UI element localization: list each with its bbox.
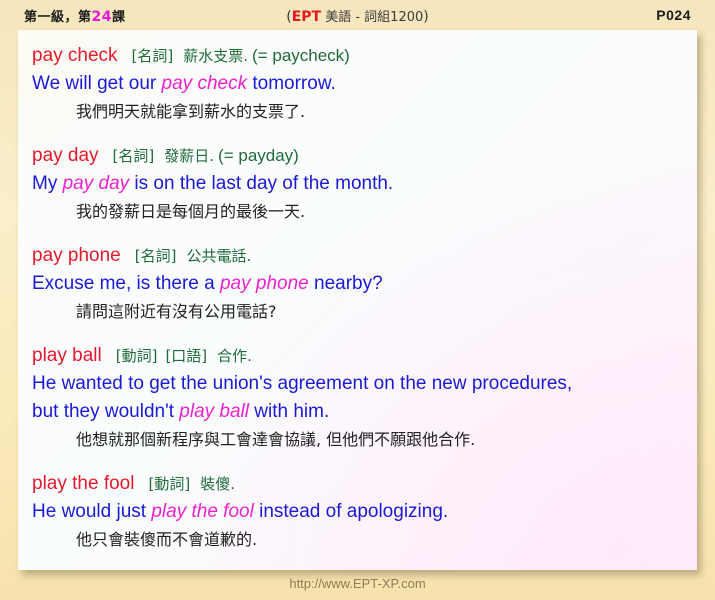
series-title-rest: 美語 - 詞組1200 <box>321 10 423 25</box>
entry-translation-chinese: 他只會裝傻而不會道歉的. <box>32 526 697 554</box>
entry-example-english: He wanted to get the union's agreement o… <box>32 370 697 398</box>
page-header: 第一級，第24課 (EPT 美語 - 詞組1200) P024 <box>0 0 715 30</box>
entry-headword-line: play ball[動詞][口語]合作. <box>32 342 697 370</box>
vocabulary-entry: pay phone[名詞]公共電話.Excuse me, is there a … <box>32 242 697 326</box>
entry-term: pay day <box>32 145 99 166</box>
entry-example-english: but they wouldn't play ball with him. <box>32 398 697 426</box>
entry-example-text: He wanted to get the union's agreement o… <box>32 373 572 394</box>
entry-part-of-speech: [名詞] <box>132 47 174 65</box>
entry-example-english: Excuse me, is there a pay phone nearby? <box>32 270 697 298</box>
vocabulary-entry: pay check[名詞]薪水支票.(= paycheck)We will ge… <box>32 42 697 126</box>
entry-example-text: We will get our <box>32 73 162 94</box>
entry-example-text: but they wouldn't <box>32 401 179 422</box>
brand-name: EPT <box>292 9 321 25</box>
entry-example-text: is on the last day of the month. <box>129 173 393 194</box>
entry-headword-line: play the fool[動詞]裝傻. <box>32 470 697 498</box>
footer-url: http://www.EPT-XP.com <box>0 576 715 591</box>
entry-example-text: with him. <box>249 401 329 422</box>
entry-example-text: He would just <box>32 501 151 522</box>
entry-example-highlight: pay check <box>162 73 248 94</box>
entry-gloss: 公共電話. <box>186 247 251 265</box>
page-number: P024 <box>656 7 691 23</box>
entry-part-of-speech: [口語] <box>165 347 207 365</box>
series-title: (EPT 美語 - 詞組1200) <box>0 6 715 25</box>
entry-example-highlight: play the fool <box>151 501 253 522</box>
entry-gloss: 薪水支票. <box>183 47 248 65</box>
entry-translation-chinese: 他想就那個新程序與工會達會協議, 但他們不願跟他合作. <box>32 426 697 454</box>
entry-part-of-speech: [名詞] <box>135 247 177 265</box>
entry-headword-line: pay day[名詞]發薪日.(= payday) <box>32 142 697 170</box>
entry-example-text: My <box>32 173 63 194</box>
entry-translation-chinese: 請問這附近有沒有公用電話? <box>32 298 697 326</box>
entry-term: play ball <box>32 345 102 366</box>
entry-gloss: 發薪日. <box>164 147 214 165</box>
entry-gloss: 合作. <box>217 347 252 365</box>
entry-part-of-speech: [動詞] <box>116 347 158 365</box>
entry-term: pay check <box>32 45 118 66</box>
entry-alternate-form: (= paycheck) <box>252 46 350 65</box>
entry-example-english: My pay day is on the last day of the mon… <box>32 170 697 198</box>
series-title-close: ) <box>423 9 428 25</box>
entry-example-highlight: play ball <box>179 401 249 422</box>
vocabulary-entry-list: pay check[名詞]薪水支票.(= paycheck)We will ge… <box>18 30 697 554</box>
entry-example-highlight: pay day <box>63 173 130 194</box>
entry-example-text: Excuse me, is there a <box>32 273 220 294</box>
entry-headword-line: pay check[名詞]薪水支票.(= paycheck) <box>32 42 697 70</box>
entry-example-highlight: pay phone <box>220 273 309 294</box>
entry-term: pay phone <box>32 245 121 266</box>
entry-term: play the fool <box>32 473 134 494</box>
entry-gloss: 裝傻. <box>200 475 235 493</box>
vocabulary-entry: play the fool[動詞]裝傻.He would just play t… <box>32 470 697 554</box>
entry-example-english: We will get our pay check tomorrow. <box>32 70 697 98</box>
vocabulary-entry: pay day[名詞]發薪日.(= payday)My pay day is o… <box>32 142 697 226</box>
vocabulary-entry: play ball[動詞][口語]合作.He wanted to get the… <box>32 342 697 454</box>
entry-example-text: nearby? <box>309 273 383 294</box>
entry-translation-chinese: 我的發薪日是每個月的最後一天. <box>32 198 697 226</box>
entry-example-text: instead of apologizing. <box>254 501 448 522</box>
entry-translation-chinese: 我們明天就能拿到薪水的支票了. <box>32 98 697 126</box>
entry-headword-line: pay phone[名詞]公共電話. <box>32 242 697 270</box>
entry-example-english: He would just play the fool instead of a… <box>32 498 697 526</box>
entry-alternate-form: (= payday) <box>218 146 299 165</box>
entry-part-of-speech: [名詞] <box>113 147 155 165</box>
entry-part-of-speech: [動詞] <box>148 475 190 493</box>
content-panel: pay check[名詞]薪水支票.(= paycheck)We will ge… <box>18 30 697 570</box>
entry-example-text: tomorrow. <box>247 73 336 94</box>
